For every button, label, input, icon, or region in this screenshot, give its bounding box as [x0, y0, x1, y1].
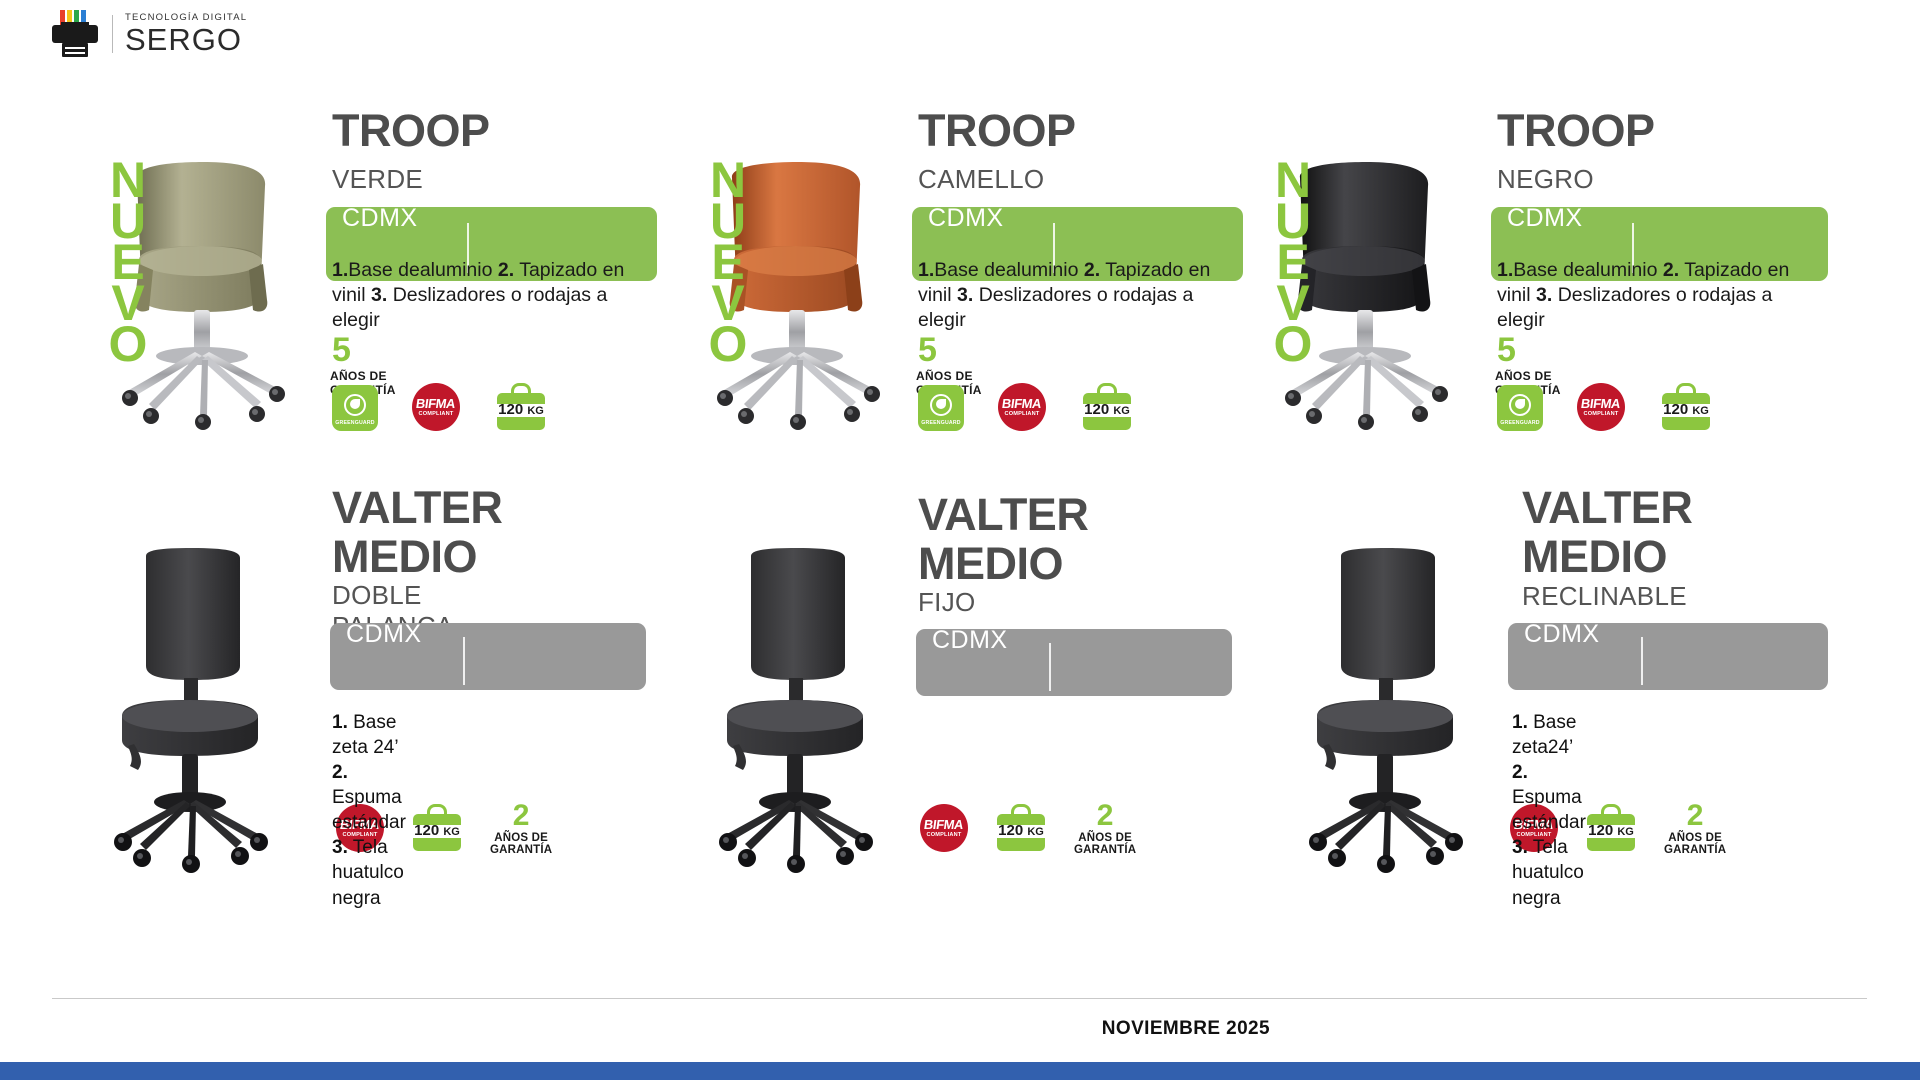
product-banner: CDMX	[1508, 623, 1828, 690]
product-subtitle: FIJO	[918, 587, 976, 618]
banner-divider	[463, 637, 465, 685]
banner-divider	[1641, 637, 1643, 685]
warranty-badge: 2 AÑOS DE GARANTÍA	[490, 800, 552, 856]
brand-logo: TECNOLOGÍA DIGITAL SERGO	[52, 10, 247, 58]
new-badge: NUEVO	[100, 160, 156, 365]
product-specs: 1. Base zeta 24’ 2. Espuma estándar 3. T…	[332, 710, 406, 911]
product-specs: 1.Base dealuminio 2. Tapizado en vinil 3…	[1497, 258, 1792, 333]
product-title-line2: MEDIO	[918, 541, 1063, 586]
product-subtitle: VERDE	[332, 164, 423, 195]
weight-capacity-icon: 120 KG	[1584, 804, 1638, 852]
footer-date: NOVIEMBRE 2025	[1102, 1018, 1270, 1040]
product-banner: CDMX	[916, 629, 1232, 696]
product-title: TROOP	[918, 110, 1076, 153]
product-title-line1: VALTER	[332, 485, 502, 530]
new-badge: NUEVO	[700, 160, 756, 365]
product-specs: 1. Base zeta24’ 2. Espuma estándar 3. Te…	[1512, 710, 1586, 911]
bifma-icon: BIFMA COMPLIANT	[412, 383, 460, 431]
product-image-valter	[1295, 548, 1505, 878]
bifma-icon: BIFMA COMPLIANT	[1577, 383, 1625, 431]
new-badge: NUEVO	[1265, 160, 1321, 365]
location-label: CDMX	[346, 620, 422, 649]
weight-capacity-icon: 120 KG	[1659, 383, 1713, 431]
product-subtitle: NEGRO	[1497, 164, 1594, 195]
printer-icon	[52, 10, 98, 58]
location-label: CDMX	[932, 626, 1008, 655]
product-title-line1: VALTER	[918, 492, 1088, 537]
weight-capacity-icon: 120 KG	[1080, 383, 1134, 431]
product-title-line2: MEDIO	[332, 534, 477, 579]
product-specs: 1.Base dealuminio 2. Tapizado en vinil 3…	[332, 258, 627, 333]
product-title-line2: MEDIO	[1522, 534, 1667, 579]
banner-divider	[1049, 643, 1051, 691]
certification-badges: GREENGUARD BIFMA COMPLIANT 120 KG	[918, 383, 1134, 431]
certification-badges: BIFMA COMPLIANT 120 KG 2 AÑOS DE GARANTÍ…	[920, 800, 1136, 856]
brand-tagline: TECNOLOGÍA DIGITAL	[125, 13, 247, 23]
product-image-valter	[100, 548, 310, 878]
product-subtitle: CAMELLO	[918, 164, 1044, 195]
warranty-years: 5	[1497, 333, 1516, 367]
bifma-icon: BIFMA COMPLIANT	[998, 383, 1046, 431]
location-label: CDMX	[342, 204, 418, 233]
warranty-badge: 2 AÑOS DE GARANTÍA	[1664, 800, 1726, 856]
product-title-line1: VALTER	[1522, 485, 1692, 530]
weight-capacity-icon: 120 KG	[994, 804, 1048, 852]
weight-capacity-icon: 120 KG	[494, 383, 548, 431]
location-label: CDMX	[1524, 620, 1600, 649]
greenguard-icon: GREENGUARD	[1497, 385, 1543, 431]
location-label: CDMX	[928, 204, 1004, 233]
greenguard-icon: GREENGUARD	[332, 385, 378, 431]
bottom-accent-bar	[0, 1062, 1920, 1080]
product-subtitle: RECLINABLE	[1522, 581, 1687, 612]
product-title: TROOP	[1497, 110, 1655, 153]
certification-badges: GREENGUARD BIFMA COMPLIANT 120 KG	[332, 383, 548, 431]
product-banner: CDMX	[330, 623, 646, 690]
warranty-badge: 2 AÑOS DE GARANTÍA	[1074, 800, 1136, 856]
location-label: CDMX	[1507, 204, 1583, 233]
product-title: TROOP	[332, 110, 490, 153]
product-specs: 1.Base dealuminio 2. Tapizado en vinil 3…	[918, 258, 1213, 333]
certification-badges: GREENGUARD BIFMA COMPLIANT 120 KG	[1497, 383, 1713, 431]
footer-divider	[52, 998, 1867, 999]
brand-name: SERGO	[125, 24, 247, 55]
weight-capacity-icon: 120 KG	[410, 804, 464, 852]
product-image-valter	[705, 548, 915, 878]
logo-divider	[112, 15, 113, 53]
bifma-icon: BIFMA COMPLIANT	[920, 804, 968, 852]
